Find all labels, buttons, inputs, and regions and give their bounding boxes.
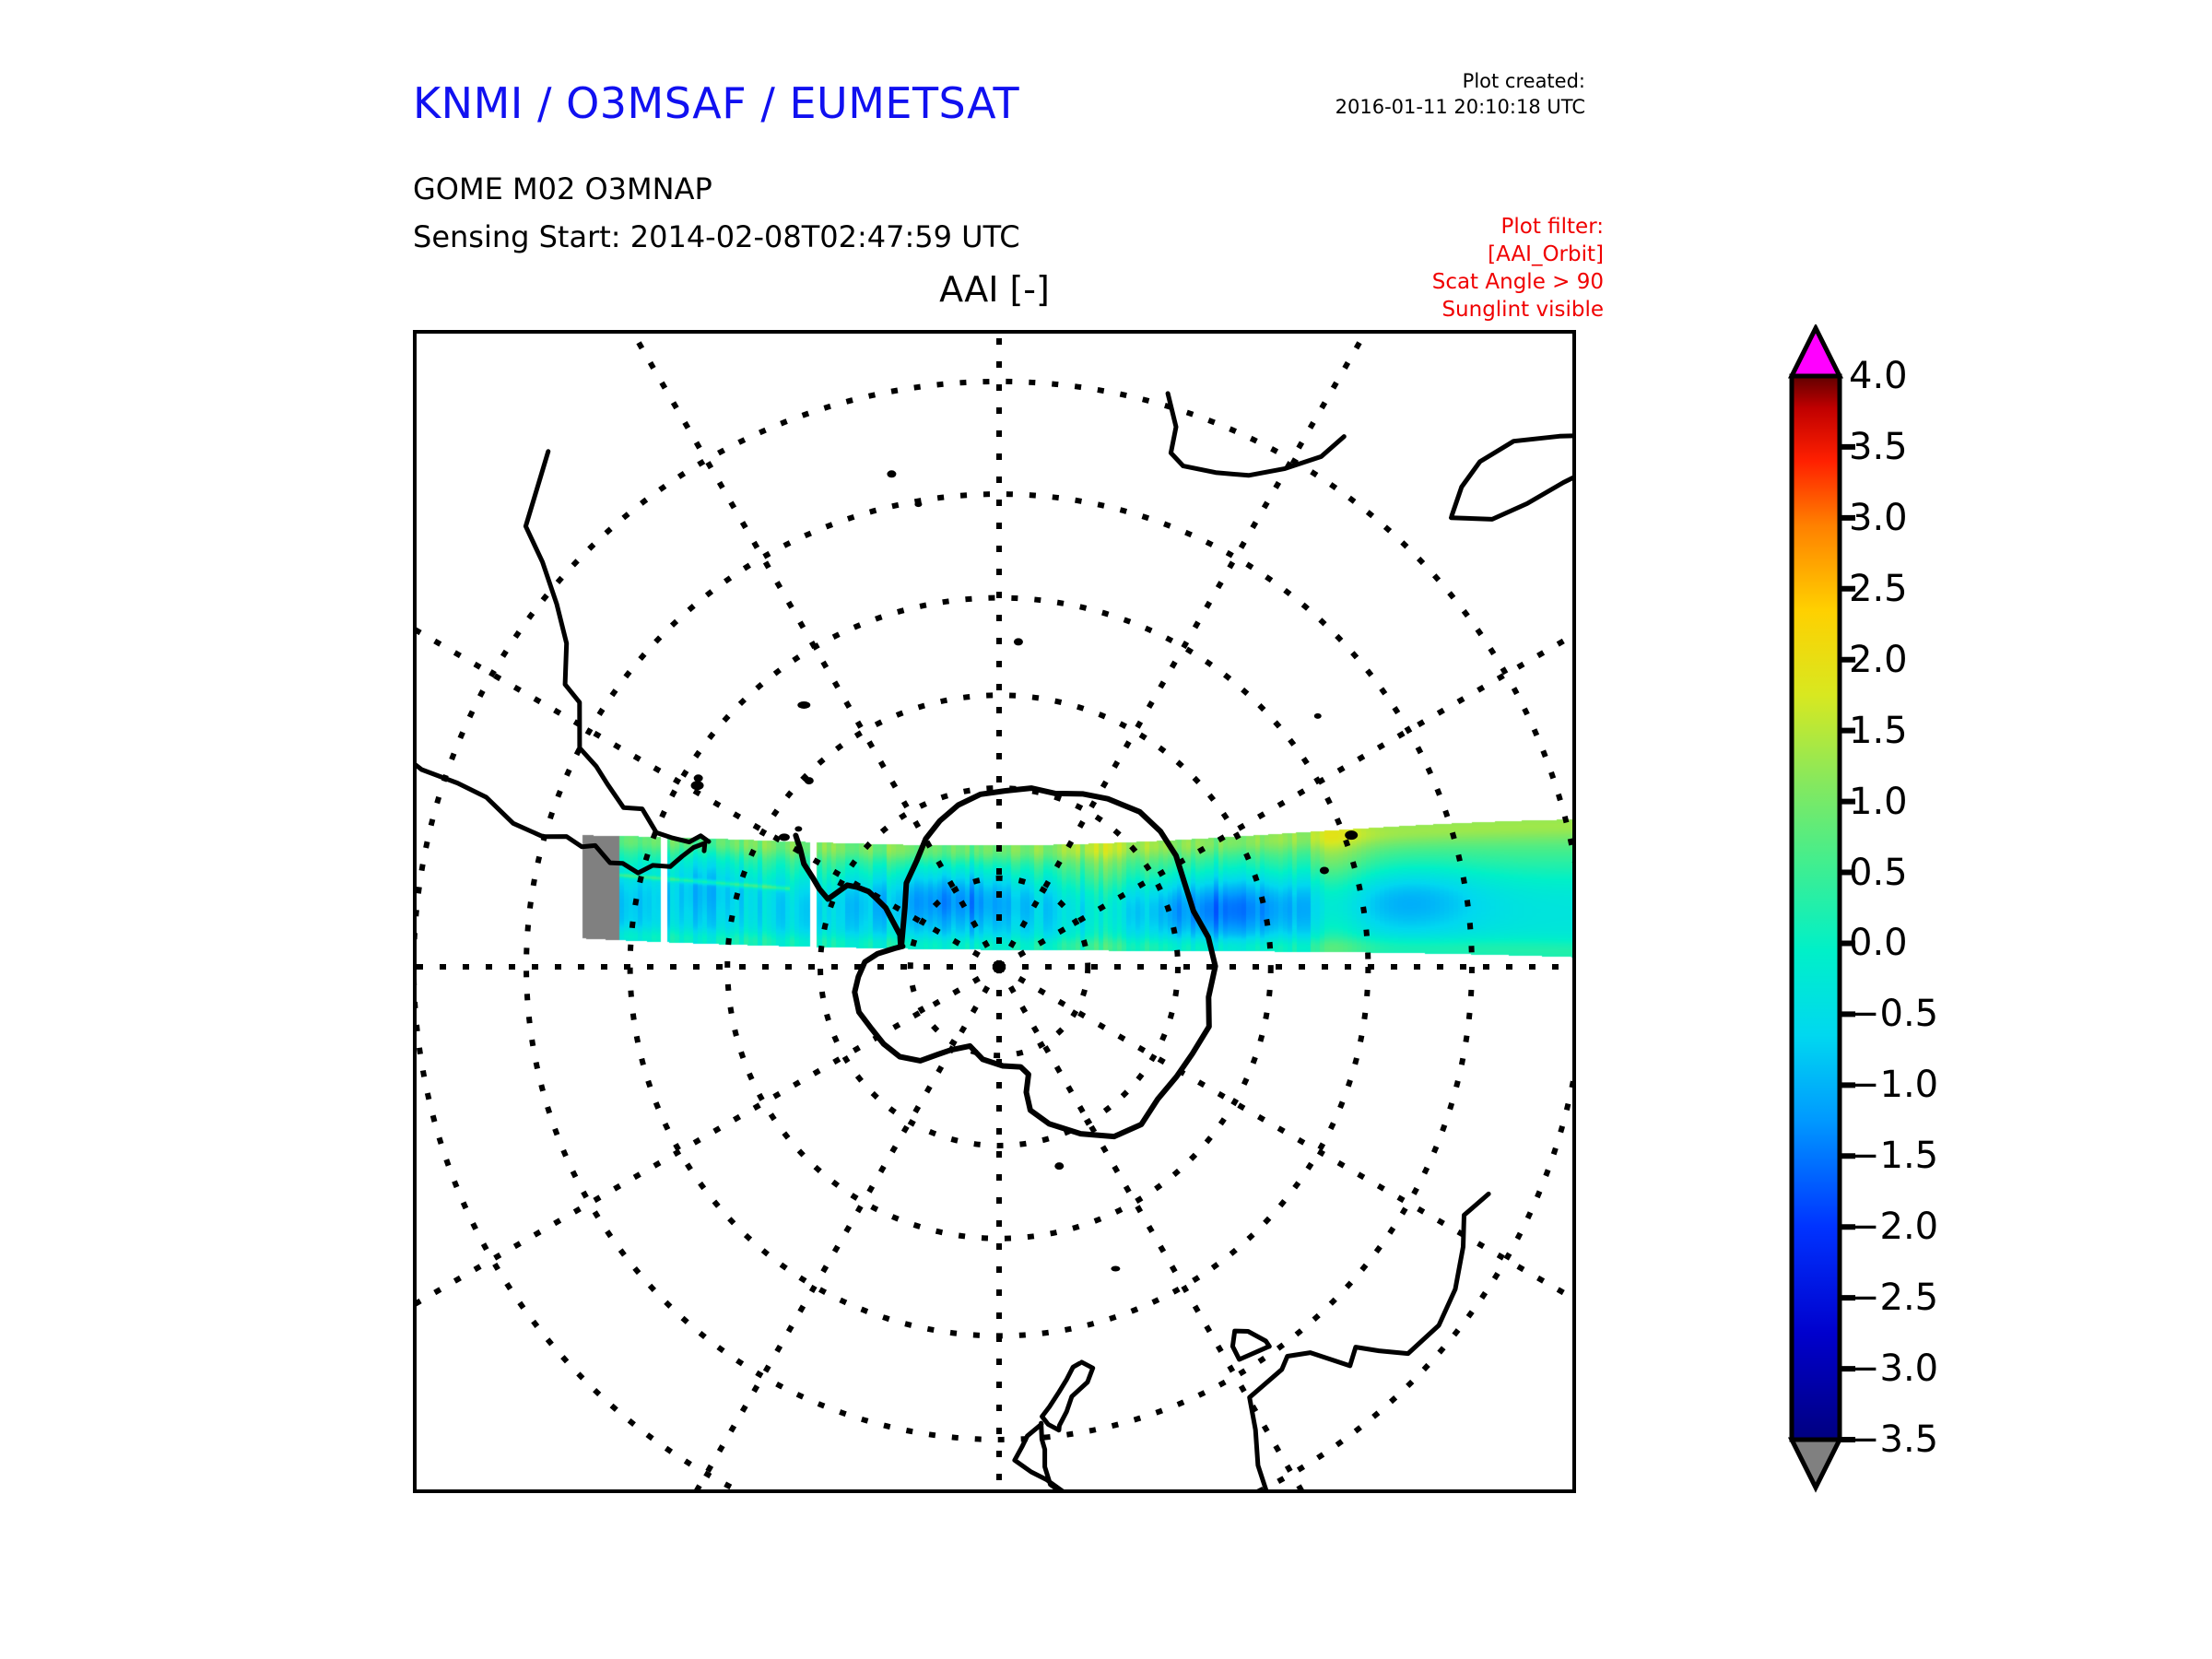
- colorbar-tick-11: −1.5: [1849, 1135, 1938, 1177]
- colorbar-tick-4: 2.0: [1849, 639, 1908, 681]
- colorbar-tick-15: −3.5: [1849, 1418, 1938, 1461]
- colorbar-tick-3: 2.5: [1849, 568, 1908, 610]
- colorbar-tick-9: −0.5: [1849, 993, 1938, 1035]
- product-line: GOME M02 O3MNAP: [413, 171, 712, 206]
- plot-created-value: 2016-01-11 20:10:18 UTC: [1318, 95, 1585, 121]
- colorbar: 4.03.53.02.52.01.51.00.50.0−0.5−1.0−1.5−…: [1779, 324, 2166, 1513]
- map-graticule-and-coastlines: [417, 334, 1572, 1489]
- plot-filter-name: [AAI_Orbit]: [1290, 241, 1604, 269]
- colorbar-tick-13: −2.5: [1849, 1277, 1938, 1319]
- colorbar-tick-14: −3.0: [1849, 1347, 1938, 1390]
- colorbar-tick-8: 0.0: [1849, 922, 1908, 964]
- sensing-start-line: Sensing Start: 2014-02-08T02:47:59 UTC: [413, 219, 1020, 254]
- organisation-title: KNMI / O3MSAF / EUMETSAT: [413, 78, 1019, 128]
- plot-title: AAI [-]: [413, 269, 1576, 310]
- colorbar-tick-7: 0.5: [1849, 852, 1908, 894]
- colorbar-tick-12: −2.0: [1849, 1206, 1938, 1248]
- colorbar-tick-5: 1.5: [1849, 710, 1908, 752]
- plot-created-label: Plot created:: [1318, 69, 1585, 95]
- plot-filter-label: Plot filter:: [1290, 214, 1604, 241]
- plot-created-block: Plot created: 2016-01-11 20:10:18 UTC: [1318, 69, 1585, 120]
- map-canvas-area: [417, 334, 1572, 1489]
- colorbar-tick-10: −1.0: [1849, 1064, 1938, 1106]
- colorbar-tick-6: 1.0: [1849, 781, 1908, 823]
- map-plot-frame: [413, 330, 1576, 1493]
- colorbar-tick-0: 4.0: [1849, 355, 1908, 397]
- colorbar-tick-1: 3.5: [1849, 426, 1908, 468]
- colorbar-tick-2: 3.0: [1849, 497, 1908, 539]
- colorbar-gradient: [1779, 324, 2166, 1513]
